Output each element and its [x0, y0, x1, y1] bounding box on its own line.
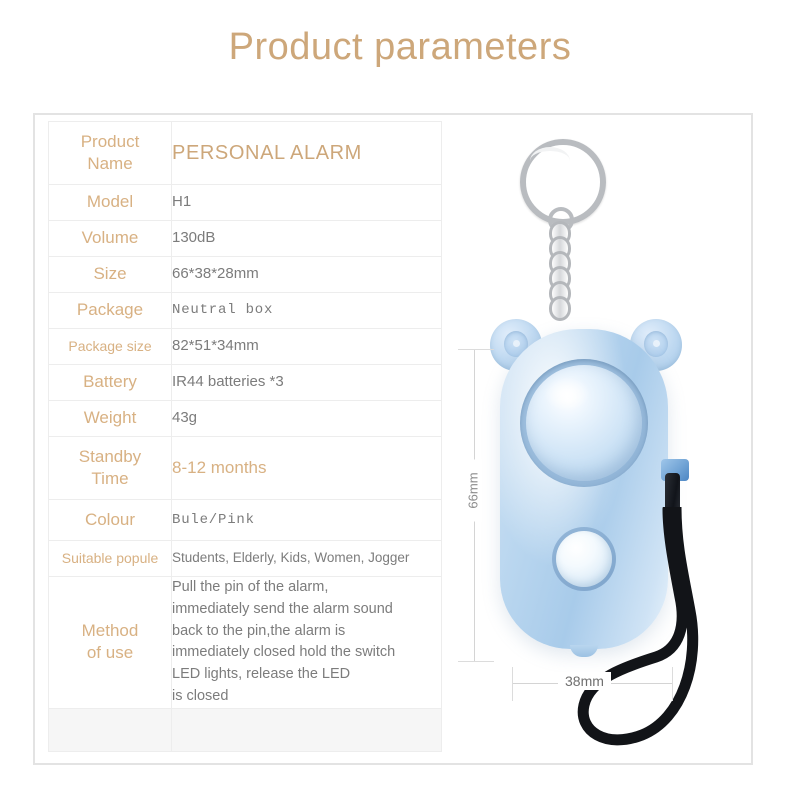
blank-cell-right: [172, 708, 442, 751]
product-photo: 66mm 38mm: [452, 121, 748, 761]
row-value-weight: 43g: [172, 401, 442, 437]
row-value-colour: Bule/Pink: [172, 500, 442, 541]
row-label-model: Model: [49, 185, 172, 221]
table-row: Weight 43g: [49, 401, 442, 437]
keyring-highlight: [530, 147, 570, 175]
product-parameters-page: Product parameters Product Name PERSONAL…: [0, 0, 800, 800]
row-value-battery: IR44 batteries *3: [172, 365, 442, 401]
table-row: Package Neutral box: [49, 293, 442, 329]
row-label-package-size: Package size: [49, 329, 172, 365]
row-label-volume: Volume: [49, 221, 172, 257]
table-row: Colour Bule/Pink: [49, 500, 442, 541]
label-line-2: Time: [49, 468, 171, 490]
table-row: Suitable popule Students, Elderly, Kids,…: [49, 541, 442, 577]
dome-highlight: [544, 377, 590, 411]
row-label-package: Package: [49, 293, 172, 329]
ear-inner: [644, 331, 668, 357]
row-value-suitable-popule: Students, Elderly, Kids, Women, Jogger: [172, 541, 442, 577]
row-label-colour: Colour: [49, 500, 172, 541]
row-value-standby-time: 8-12 months: [172, 437, 442, 500]
width-dimension-cap-right: [672, 667, 673, 701]
row-value-product-name: PERSONAL ALARM: [172, 122, 442, 185]
table-row: Size 66*38*28mm: [49, 257, 442, 293]
label-line-1: Method: [49, 620, 171, 642]
blank-cell-left: [49, 708, 172, 751]
table-row: Method of use Pull the pin of the alarm,…: [49, 577, 442, 709]
row-value-package: Neutral box: [172, 293, 442, 329]
row-value-model: H1: [172, 185, 442, 221]
row-label-product-name: Product Name: [49, 122, 172, 185]
row-value-package-size: 82*51*34mm: [172, 329, 442, 365]
table-row: Product Name PERSONAL ALARM: [49, 122, 442, 185]
height-dimension-label: 66mm: [464, 460, 483, 522]
table-row: Standby Time 8-12 months: [49, 437, 442, 500]
table-row-blank: [49, 708, 442, 751]
width-dimension-cap-left: [512, 667, 513, 701]
row-label-standby-time: Standby Time: [49, 437, 172, 500]
table-row: Package size 82*51*34mm: [49, 329, 442, 365]
ear-dot: [653, 340, 660, 347]
label-line-1: Product: [49, 131, 171, 153]
table-row: Volume 130dB: [49, 221, 442, 257]
row-label-battery: Battery: [49, 365, 172, 401]
row-label-suitable-popule: Suitable popule: [49, 541, 172, 577]
page-title: Product parameters: [0, 26, 800, 69]
lanyard-strap-icon: [572, 507, 748, 757]
row-label-method-of-use: Method of use: [49, 577, 172, 709]
height-dimension-cap-top: [458, 349, 494, 350]
label-line-1: Standby: [49, 446, 171, 468]
row-value-method-of-use: Pull the pin of the alarm, immediately s…: [172, 577, 442, 709]
height-dimension-cap-bottom: [458, 661, 494, 662]
row-label-weight: Weight: [49, 401, 172, 437]
row-label-size: Size: [49, 257, 172, 293]
row-value-volume: 130dB: [172, 221, 442, 257]
row-value-size: 66*38*28mm: [172, 257, 442, 293]
table-row: Model H1: [49, 185, 442, 221]
table-row: Battery IR44 batteries *3: [49, 365, 442, 401]
label-line-2: of use: [49, 642, 171, 664]
chain-link: [549, 296, 571, 321]
chain-icon: [547, 221, 567, 317]
ear-dot: [513, 340, 520, 347]
width-dimension-label: 38mm: [558, 672, 611, 690]
label-line-2: Name: [49, 153, 171, 175]
specification-table: Product Name PERSONAL ALARM Model H1 Vol…: [48, 121, 442, 752]
